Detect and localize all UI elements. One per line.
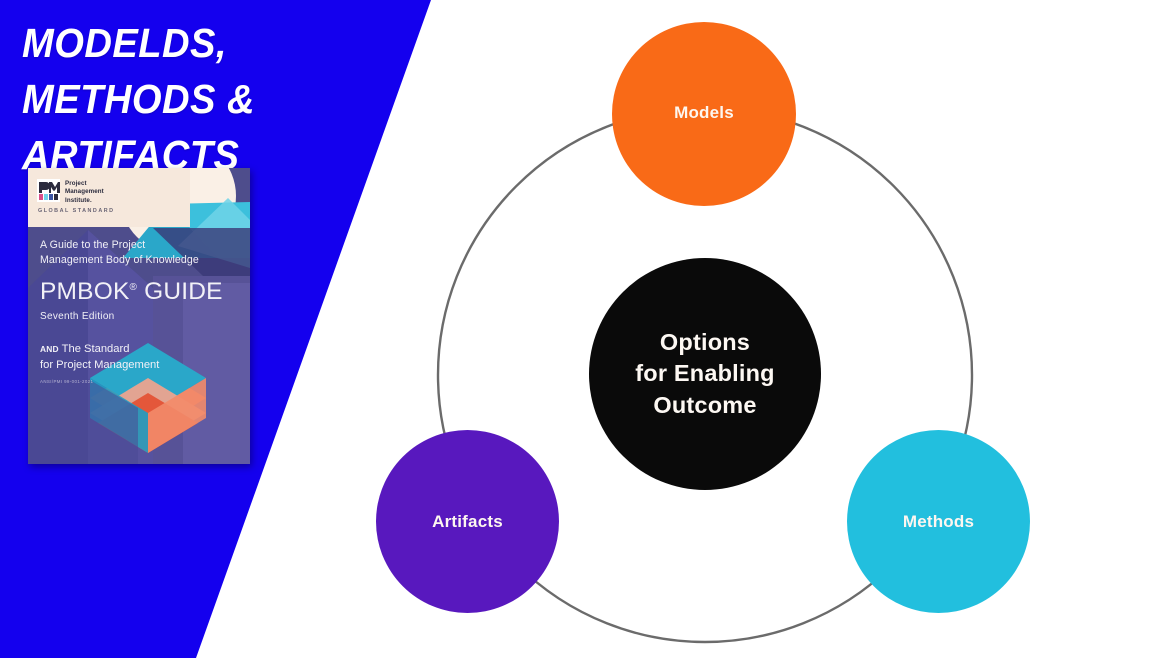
book-title-registered-mark: ® bbox=[130, 282, 138, 293]
node-methods[interactable]: Methods bbox=[847, 430, 1030, 613]
node-center-label: Options for Enabling Outcome bbox=[635, 327, 774, 421]
book-standard-block: AND The Standard for Project Management bbox=[40, 342, 240, 374]
book-subtitle: A Guide to the Project Management Body o… bbox=[40, 238, 240, 267]
book-title-suffix: GUIDE bbox=[137, 278, 223, 305]
pmi-logo: Project Management Institute. bbox=[37, 179, 104, 205]
book-edition: Seventh Edition bbox=[40, 311, 240, 322]
book-title: PMBOK® GUIDE bbox=[40, 278, 240, 306]
node-models[interactable]: Models bbox=[612, 22, 796, 206]
node-artifacts[interactable]: Artifacts bbox=[376, 430, 559, 613]
node-methods-label: Methods bbox=[903, 512, 974, 532]
book-ansi-code: ANSI/PMI 99-001-2021 bbox=[40, 379, 240, 384]
book-title-main: PMBOK bbox=[40, 278, 130, 305]
book-and-label: AND bbox=[40, 344, 59, 354]
pmi-mark-icon bbox=[37, 179, 60, 202]
slide-canvas: MODELDS, METHODS & ARTIFACTS bbox=[0, 0, 1170, 658]
global-standard-label: GLOBAL STANDARD bbox=[38, 208, 115, 214]
node-center-outcome[interactable]: Options for Enabling Outcome bbox=[589, 258, 821, 490]
page-title: MODELDS, METHODS & ARTIFACTS bbox=[22, 16, 394, 183]
book-cover-text: A Guide to the Project Management Body o… bbox=[40, 238, 240, 384]
venn-cycle-diagram: Models Options for Enabling Outcome Meth… bbox=[400, 0, 1170, 658]
node-models-label: Models bbox=[674, 103, 734, 123]
pmbok-guide-book-cover: Project Management Institute. GLOBAL STA… bbox=[28, 168, 250, 464]
book-cover-artwork: Project Management Institute. GLOBAL STA… bbox=[28, 168, 250, 464]
node-artifacts-label: Artifacts bbox=[432, 512, 503, 532]
pmi-logo-plate: Project Management Institute. GLOBAL STA… bbox=[28, 168, 190, 227]
pmi-publisher-name: Project Management Institute. bbox=[65, 179, 104, 205]
